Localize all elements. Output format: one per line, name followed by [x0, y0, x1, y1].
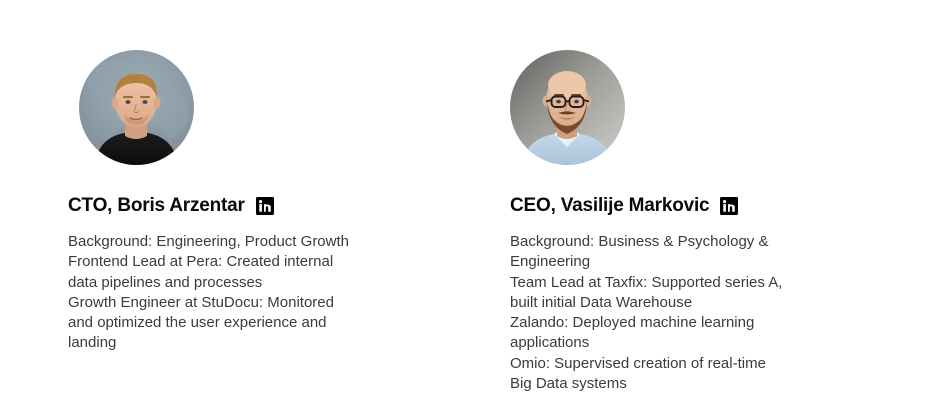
- avatar: [510, 50, 625, 165]
- profile-bio: Background: Business & Psychology & Engi…: [510, 232, 860, 394]
- profile-card-ceo: CEO, Vasilije Markovic Background: Busin…: [510, 0, 910, 394]
- bio-line: built initial Data Warehouse: [510, 293, 860, 313]
- profile-card-cto: CTO, Boris Arzentar Background: Engineer…: [68, 0, 468, 354]
- bio-line: landing: [68, 333, 413, 353]
- bio-line: Background: Engineering, Product Growth: [68, 232, 413, 252]
- bio-line: data pipelines and processes: [68, 273, 413, 293]
- bio-line: applications: [510, 333, 860, 353]
- profile-name-row: CTO, Boris Arzentar: [68, 194, 468, 218]
- bio-line: Omio: Supervised creation of real-time: [510, 354, 860, 374]
- bio-line: Frontend Lead at Pera: Created internal: [68, 252, 413, 272]
- bio-line: Team Lead at Taxfix: Supported series A,: [510, 273, 860, 293]
- linkedin-icon[interactable]: [256, 197, 274, 215]
- bio-line: Zalando: Deployed machine learning: [510, 313, 860, 333]
- avatar-photo: [510, 50, 625, 165]
- bio-line: Background: Business & Psychology &: [510, 232, 860, 252]
- profile-name-row: CEO, Vasilije Markovic: [510, 194, 910, 218]
- avatar-photo: [79, 50, 194, 165]
- avatar: [79, 50, 194, 165]
- profile-bio: Background: Engineering, Product Growth …: [68, 232, 413, 354]
- bio-line: Big Data systems: [510, 374, 860, 394]
- profile-name: CTO, Boris Arzentar: [68, 195, 245, 217]
- team-profiles-section: CTO, Boris Arzentar Background: Engineer…: [0, 0, 948, 412]
- bio-line: Engineering: [510, 252, 860, 272]
- bio-line: and optimized the user experience and: [68, 313, 413, 333]
- linkedin-icon[interactable]: [720, 197, 738, 215]
- bio-line: Growth Engineer at StuDocu: Monitored: [68, 293, 413, 313]
- profile-name: CEO, Vasilije Markovic: [510, 195, 709, 217]
